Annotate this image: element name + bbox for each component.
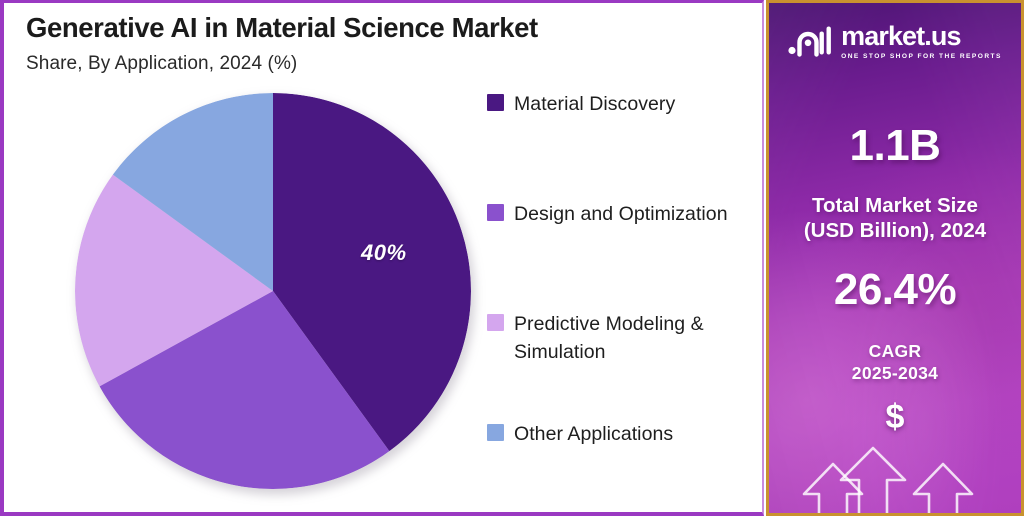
page-title: Generative AI in Material Science Market — [26, 12, 538, 44]
infographic-root: Generative AI in Material Science Market… — [0, 0, 1024, 516]
legend-swatch-other-applications — [487, 424, 504, 441]
legend-item-other-applications[interactable]: Other Applications — [487, 421, 673, 449]
growth-arrows-icon — [769, 418, 1021, 513]
legend-swatch-design-and-optimization — [487, 204, 504, 221]
legend-label-other-applications: Other Applications — [514, 421, 673, 449]
pie-chart: 40% — [72, 91, 476, 495]
pie-svg — [75, 93, 471, 489]
market-us-logo-icon — [788, 25, 832, 58]
legend-label-predictive-modeling-simulation: Predictive Modeling & Simulation — [514, 311, 737, 366]
cagr-value: 26.4% — [769, 265, 1021, 315]
market-us-logo[interactable]: market.us ONE STOP SHOP FOR THE REPORTS — [769, 23, 1021, 60]
pie-slice-label-material-discovery: 40% — [361, 240, 407, 266]
market-size-caption-line2: (USD Billion), 2024 — [769, 218, 1021, 243]
pie-slices — [75, 93, 471, 489]
cagr-caption-line2: 2025-2034 — [769, 363, 1021, 384]
legend-swatch-predictive-modeling-simulation — [487, 314, 504, 331]
brand-wordmark: market.us — [841, 23, 1002, 50]
market-size-caption-line1: Total Market Size — [769, 193, 1021, 218]
cagr-caption-line1: CAGR — [769, 341, 1021, 362]
brand-panel: market.us ONE STOP SHOP FOR THE REPORTS … — [766, 0, 1024, 516]
legend-label-design-and-optimization: Design and Optimization — [514, 201, 728, 229]
legend-item-predictive-modeling-simulation[interactable]: Predictive Modeling & Simulation — [487, 311, 737, 366]
legend-item-design-and-optimization[interactable]: Design and Optimization — [487, 201, 728, 229]
chart-panel: Generative AI in Material Science Market… — [0, 0, 764, 516]
legend-item-material-discovery[interactable]: Material Discovery — [487, 91, 675, 119]
chart-subtitle: Share, By Application, 2024 (%) — [26, 53, 297, 75]
market-us-logo-text: market.us ONE STOP SHOP FOR THE REPORTS — [841, 23, 1002, 60]
legend-label-material-discovery: Material Discovery — [514, 91, 675, 119]
market-size-value: 1.1B — [769, 121, 1021, 171]
legend-swatch-material-discovery — [487, 94, 504, 111]
brand-tagline: ONE STOP SHOP FOR THE REPORTS — [841, 53, 1002, 60]
